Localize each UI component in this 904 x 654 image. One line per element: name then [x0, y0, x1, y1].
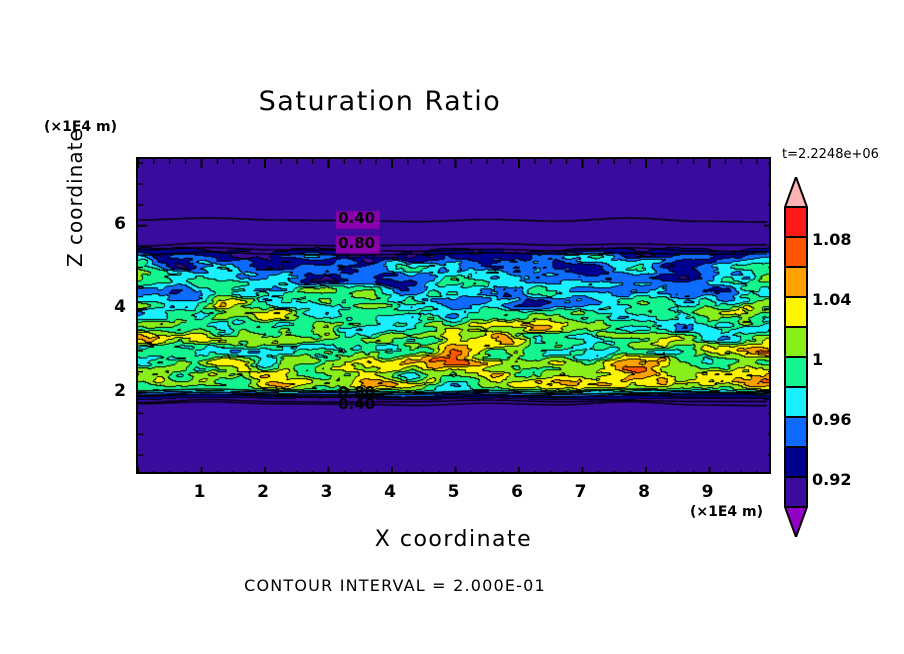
page-title: Saturation Ratio: [0, 86, 760, 117]
contour-plot-area[interactable]: [136, 157, 771, 474]
colorbar[interactable]: 1.081.0410.960.92: [784, 207, 808, 507]
colorbar-segment: [784, 477, 808, 507]
y-tick-label: 6: [96, 214, 126, 234]
x-tick-label: 5: [439, 482, 469, 502]
x-tick-label: 8: [629, 482, 659, 502]
y-axis-title-text: Z coordinate: [63, 237, 87, 267]
colorbar-segment: [784, 447, 808, 477]
x-tick-label: 1: [185, 482, 215, 502]
colorbar-segment: [784, 417, 808, 447]
colorbar-segment: [784, 387, 808, 417]
colorbar-segment: [784, 327, 808, 357]
colorbar-tick-label: 1: [812, 350, 823, 369]
x-tick-label: 6: [502, 482, 532, 502]
colorbar-bottom-cap: [784, 507, 808, 537]
x-tick-label: 2: [248, 482, 278, 502]
colorbar-tick-label: 1.04: [812, 290, 851, 309]
x-axis-unit-label: (×1E4 m): [690, 504, 763, 520]
contour-value-label: 0.40: [338, 209, 375, 227]
colorbar-tick-label: 0.96: [812, 410, 851, 429]
colorbar-tick-label: 1.08: [812, 230, 851, 249]
contour-value-label: 0.40: [338, 395, 375, 413]
y-tick-label: 4: [96, 297, 126, 317]
colorbar-segment: [784, 237, 808, 267]
colorbar-top-cap: [784, 177, 808, 207]
y-tick-label: 2: [96, 381, 126, 401]
colorbar-segment: [784, 207, 808, 237]
x-axis-title: X coordinate: [136, 527, 771, 552]
contour-interval-note: CONTOUR INTERVAL = 2.000E-01: [0, 576, 790, 595]
colorbar-segment: [784, 267, 808, 297]
colorbar-segment: [784, 297, 808, 327]
x-tick-label: 4: [375, 482, 405, 502]
x-tick-label: 7: [566, 482, 596, 502]
x-tick-label: 3: [312, 482, 342, 502]
colorbar-tick-label: 0.92: [812, 470, 851, 489]
colorbar-segment: [784, 357, 808, 387]
contour-value-label: 0.80: [338, 234, 375, 252]
x-tick-label: 9: [693, 482, 723, 502]
contour-field-canvas: [138, 159, 769, 472]
y-axis-title: Z coordinate: [63, 237, 87, 267]
timestamp-label: t=2.2248e+06: [782, 147, 879, 162]
